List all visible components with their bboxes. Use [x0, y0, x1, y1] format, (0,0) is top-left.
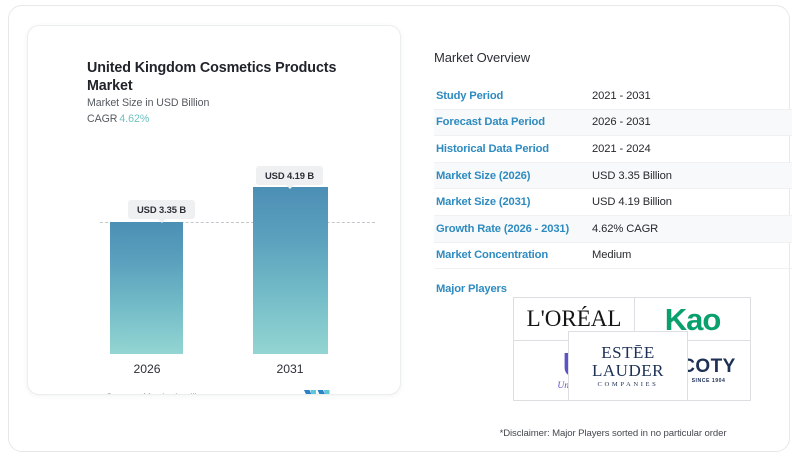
- kao-logo-text: Kao: [665, 304, 721, 335]
- disclaimer-text: *Disclaimer: Major Players sorted in no …: [434, 428, 792, 439]
- row-key-market-concentration: Market Concentration: [434, 249, 592, 261]
- row-value-growth-rate: 4.62% CAGR: [592, 223, 658, 235]
- table-row: Growth Rate (2026 - 2031) 4.62% CAGR: [434, 216, 792, 243]
- report-card-frame: United Kingdom Cosmetics Products Market…: [8, 5, 790, 452]
- row-key-study-period: Study Period: [434, 90, 592, 102]
- row-value-market-size-2026: USD 3.35 Billion: [592, 170, 672, 182]
- table-row: Market Size (2031) USD 4.19 Billion: [434, 189, 792, 216]
- estee-lauder-logo-inner: ESTĒE LAUDER COMPANIES: [592, 344, 664, 389]
- loreal-logo-text: L'ORÉAL: [527, 306, 622, 332]
- chart-source-label: Source : Mordor Intelligence: [106, 391, 222, 395]
- row-key-market-size-2026: Market Size (2026): [434, 170, 592, 182]
- coty-logo-text: COTY: [681, 357, 735, 376]
- market-overview-title: Market Overview: [434, 50, 792, 65]
- estee-lauder-line-2: LAUDER: [592, 362, 664, 379]
- bar-chart-plot: USD 3.35 B USD 4.19 B 2026 2031: [28, 26, 401, 395]
- row-key-market-size-2031: Market Size (2031): [434, 196, 592, 208]
- market-size-chart-card: United Kingdom Cosmetics Products Market…: [27, 25, 401, 395]
- row-value-market-concentration: Medium: [592, 249, 631, 261]
- row-value-market-size-2031: USD 4.19 Billion: [592, 196, 672, 208]
- row-value-study-period: 2021 - 2031: [592, 90, 651, 102]
- table-row: Forecast Data Period 2026 - 2031: [434, 110, 792, 137]
- table-row: Market Concentration Medium: [434, 243, 792, 270]
- row-key-forecast-data-period: Forecast Data Period: [434, 116, 592, 128]
- table-row: Historical Data Period 2021 - 2024: [434, 136, 792, 163]
- row-key-growth-rate: Growth Rate (2026 - 2031): [434, 223, 592, 235]
- bar-2031: [253, 187, 328, 354]
- major-players-logos: L'ORÉAL Kao U Unilever COTY SINCE 1904 E…: [506, 297, 756, 401]
- mordor-intelligence-logo-icon: [304, 389, 330, 395]
- table-row: Market Size (2026) USD 3.35 Billion: [434, 163, 792, 190]
- coty-logo-inner: COTY SINCE 1904: [681, 357, 735, 384]
- market-overview-panel: Market Overview Study Period 2021 - 2031…: [434, 50, 792, 295]
- table-row: Study Period 2021 - 2031: [434, 83, 792, 110]
- major-players-label: Major Players: [434, 283, 792, 295]
- x-axis-tick-2026: 2026: [107, 362, 187, 376]
- estee-lauder-line-1: ESTĒE: [601, 344, 655, 361]
- row-value-historical-data-period: 2021 - 2024: [592, 143, 651, 155]
- coty-logo-tagline: SINCE 1904: [692, 379, 726, 384]
- estee-lauder-logo: ESTĒE LAUDER COMPANIES: [568, 331, 688, 401]
- row-key-historical-data-period: Historical Data Period: [434, 143, 592, 155]
- bar-2026: [110, 222, 183, 354]
- row-value-forecast-data-period: 2026 - 2031: [592, 116, 651, 128]
- x-axis-tick-2031: 2031: [250, 362, 330, 376]
- bar-value-label-2031: USD 4.19 B: [256, 166, 323, 185]
- bar-value-label-2026: USD 3.35 B: [128, 200, 195, 219]
- estee-lauder-line-3: COMPANIES: [598, 382, 659, 389]
